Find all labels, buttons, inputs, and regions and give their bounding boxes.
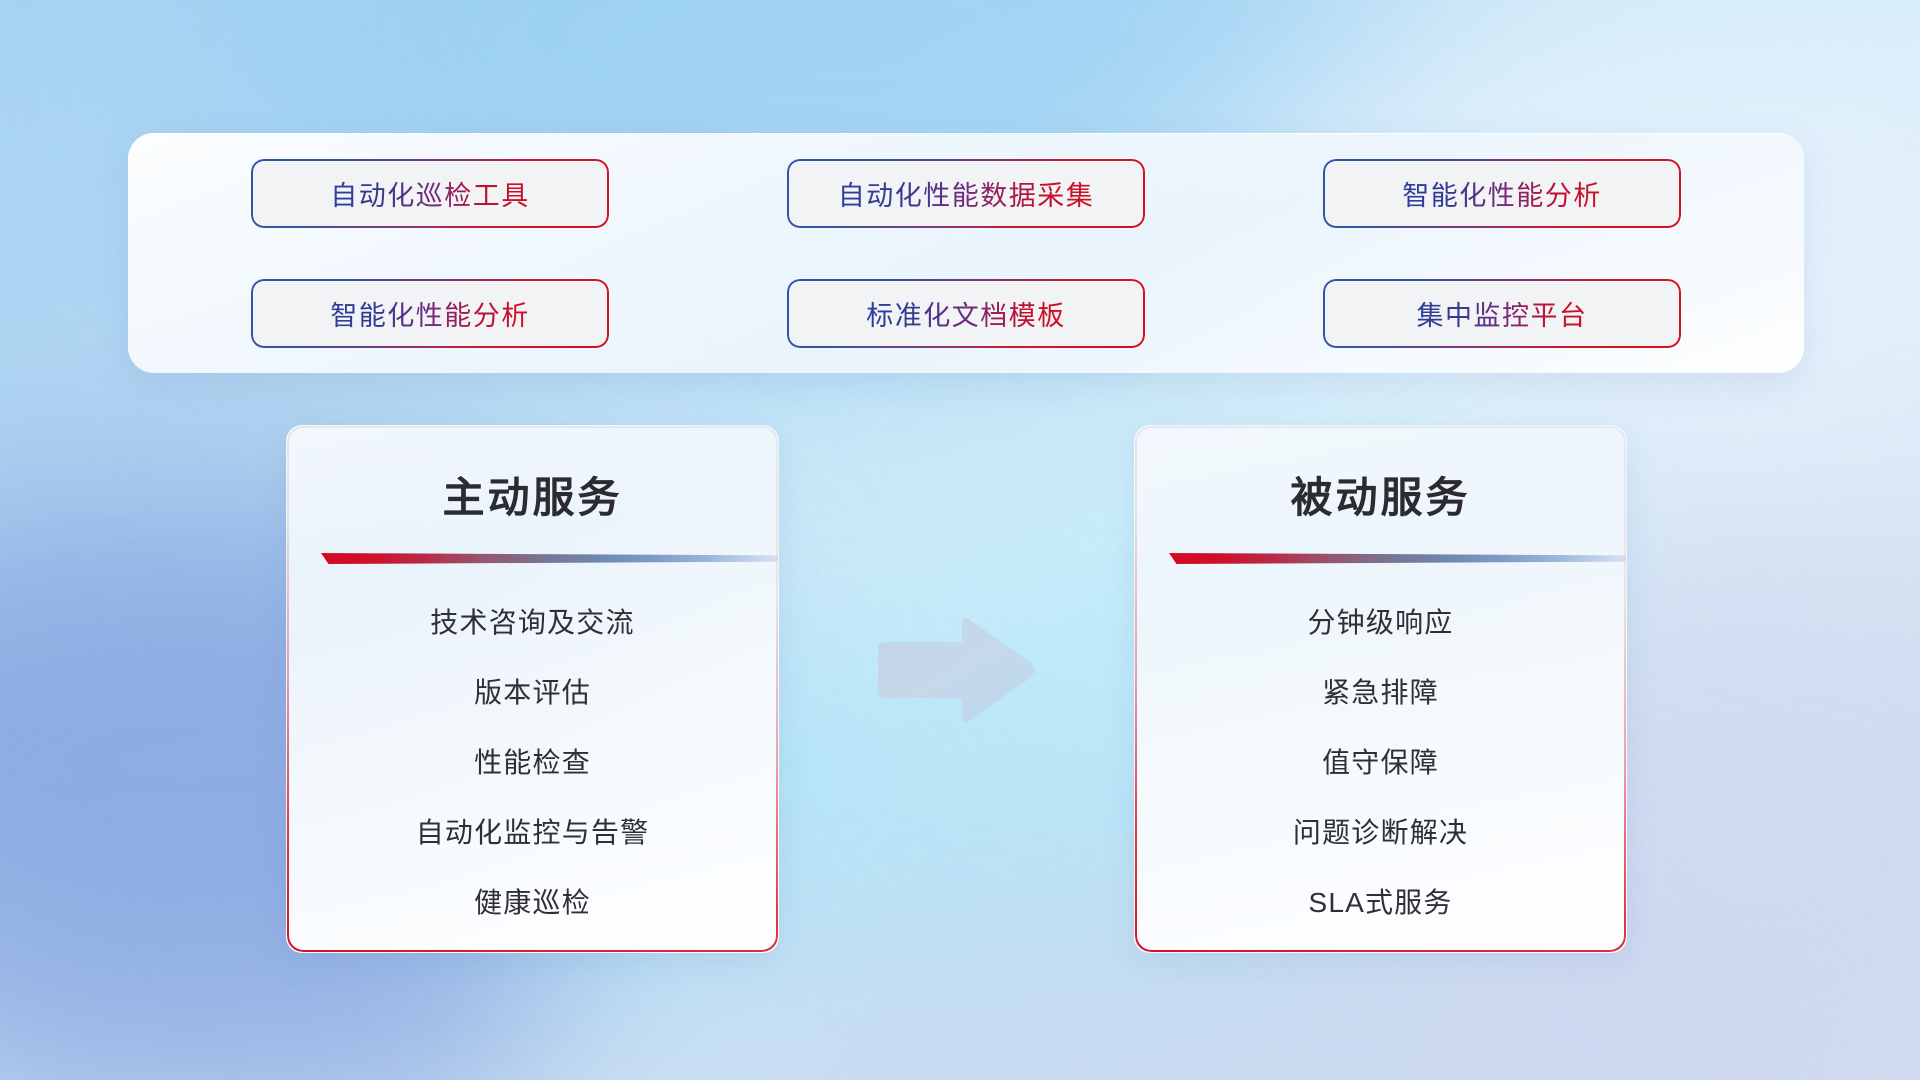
service-item: 紧急排障 [1322,671,1439,711]
service-card-reactive: 被动服务 分钟级响应 紧急排障 值守保障 问题诊断解决 SLA式服务 [1134,425,1627,953]
capability-tag-label: 集中监控平台 [1417,294,1588,333]
card-title: 被动服务 [1135,464,1626,525]
capability-tag-2[interactable]: 自动化性能数据采集 [787,159,1145,228]
service-item: 健康巡检 [474,881,591,921]
gradient-divider-bar [321,553,779,564]
service-item: 技术咨询及交流 [430,601,634,641]
capability-tags-panel: 自动化巡检工具 自动化性能数据采集 智能化性能分析 智能化性能分析 标准化文档模… [128,133,1804,373]
capability-tag-3[interactable]: 智能化性能分析 [1323,159,1681,228]
service-item: 问题诊断解决 [1293,811,1468,851]
capability-tag-label: 自动化性能数据采集 [838,174,1095,213]
flow-arrow-right-icon [870,612,1040,730]
card-title-divider-wrap [1135,549,1626,571]
service-card-proactive: 主动服务 技术咨询及交流 版本评估 性能检查 自动化监控与告警 健康巡检 [286,425,779,953]
capability-tag-label: 自动化巡检工具 [330,174,530,213]
service-item-list: 技术咨询及交流 版本评估 性能检查 自动化监控与告警 健康巡检 [287,601,778,921]
service-item: 值守保障 [1322,741,1439,781]
service-item: SLA式服务 [1308,881,1452,921]
service-item: 版本评估 [474,671,591,711]
capability-tag-1[interactable]: 自动化巡检工具 [251,159,609,228]
service-item: 性能检查 [474,741,591,781]
capability-tag-5[interactable]: 标准化文档模板 [787,279,1145,348]
capability-tag-label: 智能化性能分析 [1402,174,1602,213]
service-item-list: 分钟级响应 紧急排障 值守保障 问题诊断解决 SLA式服务 [1135,601,1626,921]
card-title: 主动服务 [287,464,778,525]
capability-tag-label: 智能化性能分析 [330,294,530,333]
capability-tag-label: 标准化文档模板 [866,294,1066,333]
service-item: 分钟级响应 [1307,601,1453,641]
gradient-divider-bar [1169,553,1627,564]
card-title-divider-wrap [287,549,778,571]
capability-tag-4[interactable]: 智能化性能分析 [251,279,609,348]
service-item: 自动化监控与告警 [416,811,650,851]
capability-tag-6[interactable]: 集中监控平台 [1323,279,1681,348]
